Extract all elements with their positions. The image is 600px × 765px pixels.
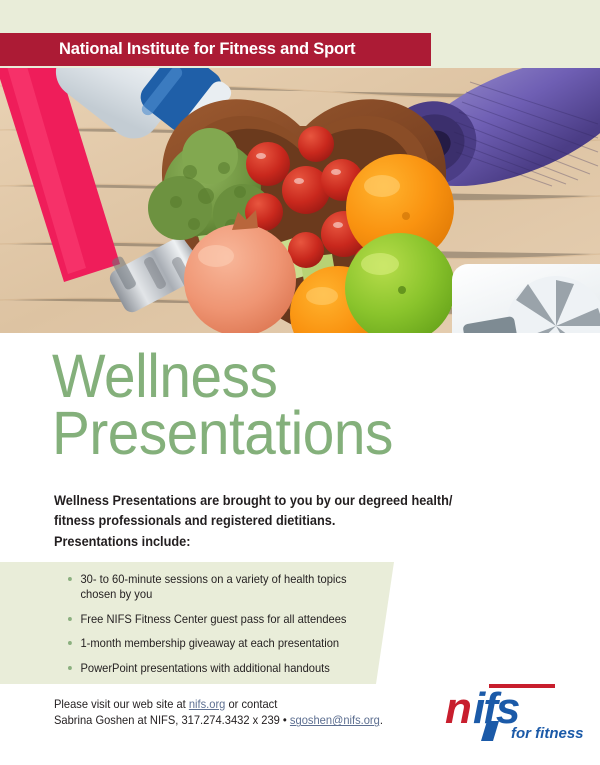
organization-banner: National Institute for Fitness and Sport (0, 33, 431, 66)
website-link[interactable]: nifs.org (189, 698, 226, 711)
email-link[interactable]: sgoshen@nifs.org (290, 714, 380, 727)
list-item-line-1: PowerPoint presentations with additional… (80, 662, 329, 675)
nifs-logo: n ifs for fitness (437, 681, 587, 743)
bullet-dot-icon (68, 617, 72, 621)
bullet-dot-icon (68, 641, 72, 645)
contact-line-2-suffix: . (380, 714, 383, 727)
logo-tagline: for fitness (511, 725, 584, 742)
intro-line-1: Wellness Presentations are brought to yo… (54, 491, 482, 511)
title-line-2: Presentations (52, 405, 536, 462)
intro-line-2: fitness professionals and registered die… (54, 511, 482, 531)
list-item: 1-month membership giveaway at each pres… (68, 636, 385, 651)
list-item-line-1: Free NIFS Fitness Center guest pass for … (80, 613, 346, 626)
list-item: Free NIFS Fitness Center guest pass for … (68, 612, 385, 627)
hero-photo-illustration (0, 68, 600, 333)
intro-paragraph: Wellness Presentations are brought to yo… (54, 491, 482, 552)
bullet-dot-icon (68, 577, 72, 581)
contact-line-2-prefix: Sabrina Goshen at NIFS, 317.274.3432 x 2… (54, 714, 290, 727)
logo-letter-n: n (445, 684, 472, 733)
title-line-1: Wellness (52, 348, 536, 405)
bathroom-scale (452, 264, 600, 333)
list-item-line-1: 30- to 60-minute sessions on a variety o… (80, 573, 346, 586)
flyer-page: National Institute for Fitness and Sport (0, 0, 600, 765)
hero-photo (0, 68, 600, 333)
list-item: 30- to 60-minute sessions on a variety o… (68, 572, 385, 603)
benefits-list: 30- to 60-minute sessions on a variety o… (68, 572, 398, 676)
organization-name: National Institute for Fitness and Sport (59, 40, 355, 59)
list-item: PowerPoint presentations with additional… (68, 661, 385, 676)
list-item-line-1: 1-month membership giveaway at each pres… (80, 637, 339, 650)
intro-line-3: Presentations include: (54, 532, 482, 552)
contact-line-1: Please visit our web site at nifs.org or… (54, 697, 409, 713)
list-item-line-2: chosen by you (80, 588, 152, 601)
contact-line-2: Sabrina Goshen at NIFS, 317.274.3432 x 2… (54, 713, 409, 729)
page-title: Wellness Presentations (52, 348, 572, 461)
nifs-logo-mark: n ifs for fitness (437, 681, 587, 743)
contact-line-1-prefix: Please visit our web site at (54, 698, 189, 711)
contact-footer: Please visit our web site at nifs.org or… (54, 697, 409, 730)
contact-line-1-suffix: or contact (225, 698, 277, 711)
bullet-dot-icon (68, 666, 72, 670)
